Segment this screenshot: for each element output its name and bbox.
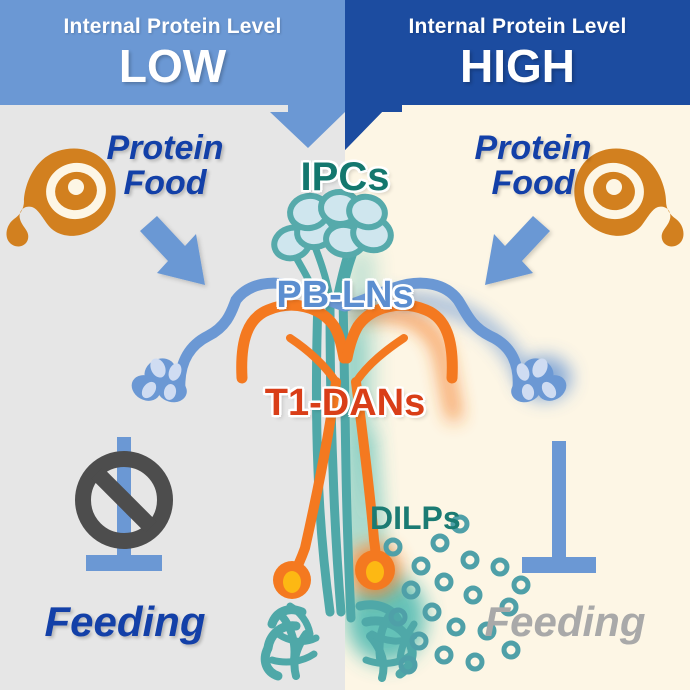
- header-subtitle-low: Internal Protein Level: [64, 16, 282, 37]
- dilps-label: DILPs: [370, 500, 461, 537]
- header-state-low: LOW: [119, 43, 226, 89]
- t1dan-soma-right: [355, 550, 395, 590]
- header-subtitle-high: Internal Protein Level: [409, 16, 627, 37]
- t1dans-label: T1-DANs: [0, 382, 690, 425]
- ipc-terminal-left: [265, 606, 316, 676]
- figure-canvas: Internal Protein Level LOW Internal Prot…: [0, 0, 690, 690]
- header-panel-high: Internal Protein Level HIGH: [345, 0, 690, 105]
- t1dan-soma-left: [273, 561, 311, 599]
- feeding-label-low: Feeding: [0, 598, 250, 646]
- feeding-label-high: Feeding: [440, 598, 690, 646]
- inhibition-tbar-icon-right: [522, 441, 596, 573]
- ipc-soma-cluster: [270, 191, 394, 263]
- header-panel-low: Internal Protein Level LOW: [0, 0, 345, 105]
- pblns-label: PB-LNs: [0, 274, 690, 317]
- header-state-high: HIGH: [460, 43, 575, 89]
- ipcs-label: IPCs: [0, 155, 690, 200]
